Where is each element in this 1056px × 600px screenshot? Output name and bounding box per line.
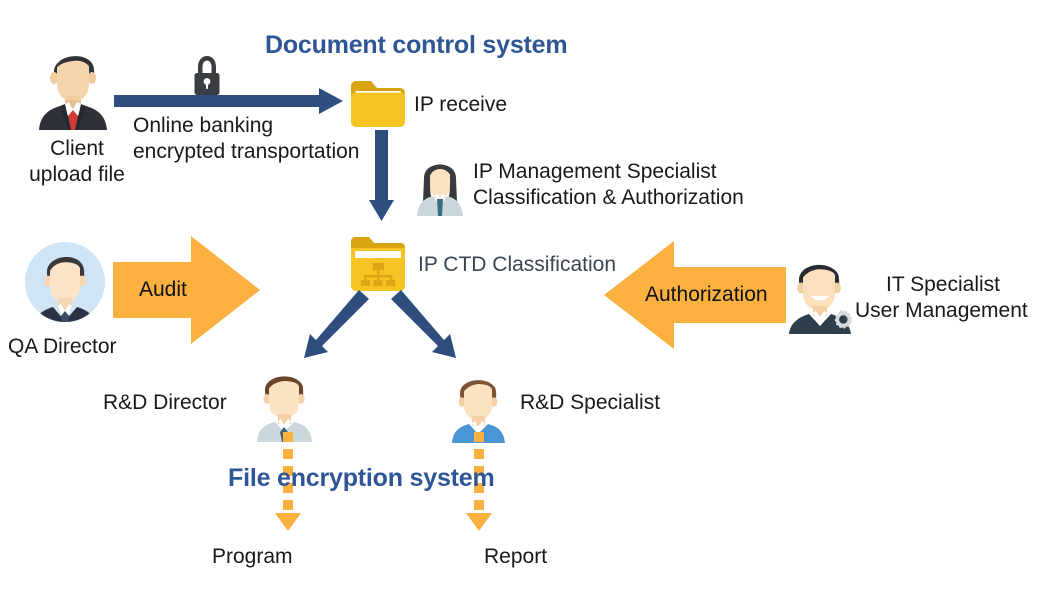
transport-label-line2: encrypted transportation: [133, 139, 359, 165]
qa-director-avatar: [24, 241, 106, 323]
file-encryption-system-title: File encryption system: [228, 464, 495, 493]
diagram-canvas: Document control system: [0, 0, 1056, 600]
client-label-line1: Client: [34, 136, 120, 162]
audit-arrow-label: Audit: [139, 278, 187, 302]
woman-specialist-avatar: [411, 152, 469, 216]
open-folder-icon: [350, 80, 406, 128]
document-control-system-title: Document control system: [265, 31, 567, 60]
ctd-branch-arrows: [290, 288, 470, 368]
authorization-arrow-label: Authorization: [645, 283, 768, 307]
client-label-line2: upload file: [14, 162, 140, 188]
receive-to-ctd-arrow: [369, 130, 395, 222]
program-label: Program: [212, 544, 293, 570]
businessman-avatar: [32, 38, 114, 130]
audit-arrow: [113, 236, 261, 344]
rd-specialist-label: R&D Specialist: [520, 390, 660, 416]
rd-director-label: R&D Director: [103, 390, 227, 416]
report-label: Report: [484, 544, 547, 570]
ip-receive-label: IP receive: [414, 92, 507, 118]
rd-director-avatar: [251, 366, 321, 442]
transport-arrow: [114, 88, 344, 114]
folder-hierarchy-icon: [350, 236, 406, 292]
qa-director-label: QA Director: [8, 334, 117, 360]
it-specialist-gear-avatar: [783, 252, 861, 334]
it-specialist-label-line2: User Management: [855, 298, 1028, 324]
ip-specialist-label-line1: IP Management Specialist: [473, 159, 717, 185]
transport-label-line1: Online banking: [133, 113, 273, 139]
ip-specialist-label-line2: Classification & Authorization: [473, 185, 744, 211]
ip-ctd-label: IP CTD Classification: [418, 253, 616, 277]
it-specialist-label-line1: IT Specialist: [886, 272, 1000, 298]
